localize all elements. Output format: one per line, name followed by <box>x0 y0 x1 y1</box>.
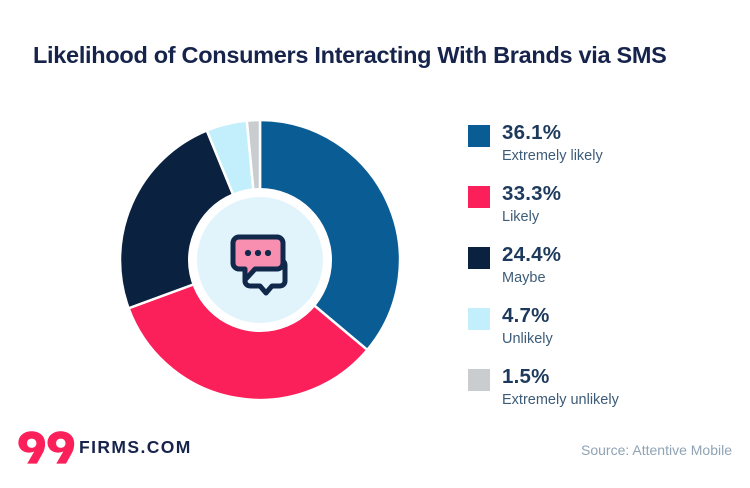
legend-swatch <box>468 186 490 208</box>
chat-dot-3 <box>265 250 271 256</box>
legend-text-group: 4.7%Unlikely <box>502 303 553 349</box>
legend-text-group: 24.4%Maybe <box>502 242 561 288</box>
logo-99-mark <box>18 430 75 465</box>
chat-bubble-front <box>233 237 283 280</box>
legend-item[interactable]: 33.3%Likely <box>468 181 733 242</box>
source-note: Source: Attentive Mobile <box>581 442 732 458</box>
legend-item[interactable]: 36.1%Extremely likely <box>468 120 733 181</box>
legend-item[interactable]: 1.5%Extremely unlikely <box>468 364 733 425</box>
chat-dot-1 <box>245 250 251 256</box>
legend-swatch <box>468 247 490 269</box>
legend-value: 24.4% <box>502 242 561 267</box>
logo-wordmark: FIRMS.COM <box>79 437 192 458</box>
chart-legend: 36.1%Extremely likely33.3%Likely24.4%May… <box>468 120 733 425</box>
legend-label: Maybe <box>502 268 561 288</box>
donut-chart <box>120 120 400 400</box>
chat-dot-2 <box>255 250 261 256</box>
legend-item[interactable]: 24.4%Maybe <box>468 242 733 303</box>
legend-swatch <box>468 369 490 391</box>
legend-value: 1.5% <box>502 364 619 389</box>
page-title: Likelihood of Consumers Interacting With… <box>33 41 723 69</box>
legend-text-group: 36.1%Extremely likely <box>502 120 603 166</box>
legend-label: Extremely likely <box>502 146 603 166</box>
legend-label: Extremely unlikely <box>502 390 619 410</box>
legend-label: Unlikely <box>502 329 553 349</box>
legend-value: 33.3% <box>502 181 561 206</box>
legend-swatch <box>468 125 490 147</box>
site-logo[interactable]: FIRMS.COM <box>18 427 192 467</box>
legend-item[interactable]: 4.7%Unlikely <box>468 303 733 364</box>
legend-value: 4.7% <box>502 303 553 328</box>
legend-swatch <box>468 308 490 330</box>
legend-text-group: 1.5%Extremely unlikely <box>502 364 619 410</box>
legend-text-group: 33.3%Likely <box>502 181 561 227</box>
legend-label: Likely <box>502 207 561 227</box>
legend-value: 36.1% <box>502 120 603 145</box>
chat-bubble-icon <box>216 218 304 302</box>
